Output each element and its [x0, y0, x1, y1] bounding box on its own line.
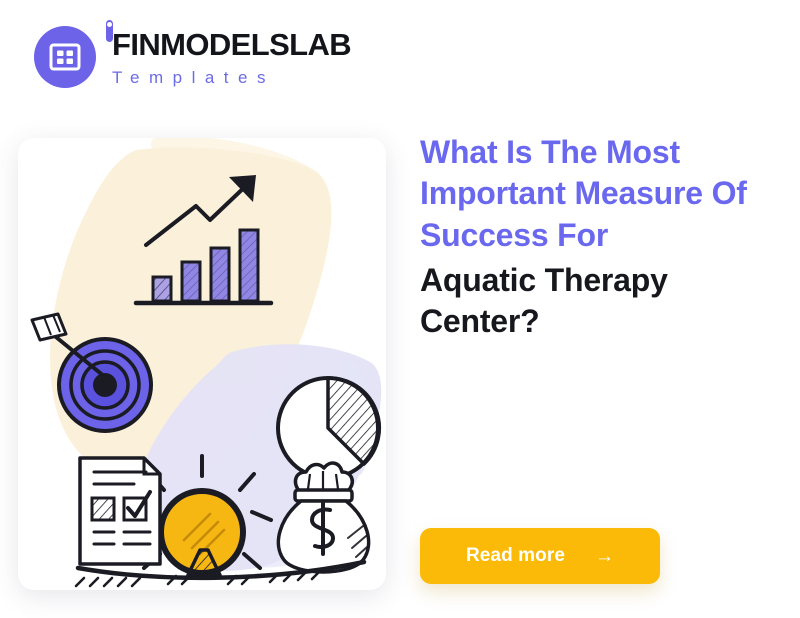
page-subtitle: Aquatic Therapy Center?	[420, 260, 770, 343]
brand-wordmark: FINMODELSLAB Templates	[112, 29, 351, 86]
promo-banner: FINMODELSLAB Templates	[0, 0, 800, 618]
page-title: What Is The Most Important Measure Of Su…	[420, 132, 770, 256]
brand-name: FINMODELSLAB	[112, 29, 351, 60]
brand-header: FINMODELSLAB Templates	[34, 26, 351, 88]
illustration-card	[18, 138, 386, 590]
read-more-label: Read more	[466, 545, 565, 567]
brand-subtitle: Templates	[112, 69, 351, 86]
read-more-button[interactable]: Read more →	[420, 528, 660, 584]
business-success-illustration	[18, 138, 386, 590]
headline-block: What Is The Most Important Measure Of Su…	[420, 132, 770, 342]
location-pin-icon	[106, 20, 113, 42]
checklist-document	[80, 458, 160, 564]
grid-squares-icon	[34, 26, 96, 88]
arrow-right-icon: →	[595, 547, 614, 566]
